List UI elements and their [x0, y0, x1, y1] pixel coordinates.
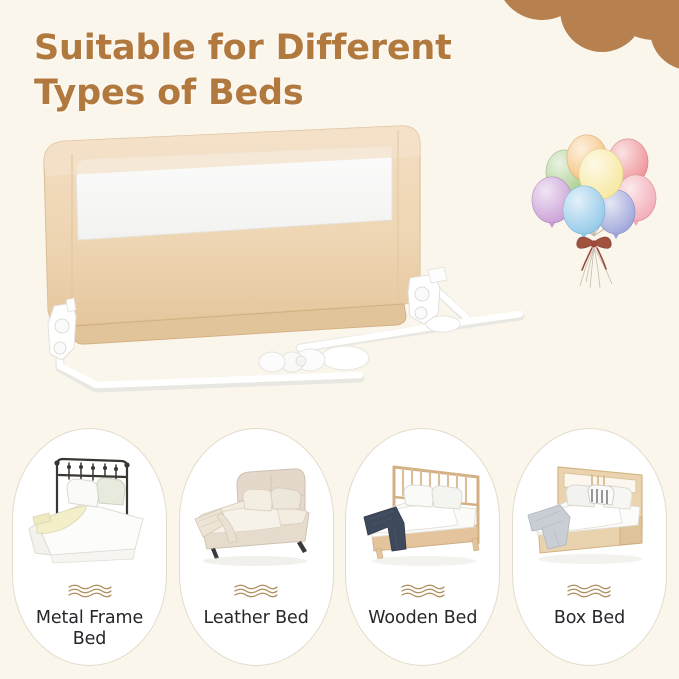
bed-type-label: Metal Frame Bed	[13, 608, 166, 649]
bed-type-card-wooden-bed[interactable]: Wooden Bed	[345, 428, 500, 666]
bed-type-label: Leather Bed	[198, 608, 315, 629]
wave-divider-icon	[233, 583, 279, 599]
page-title: Suitable for Different Types of Beds	[34, 26, 452, 116]
wave-divider-icon	[67, 583, 113, 599]
wave-divider-icon	[566, 583, 612, 599]
cloud-shape	[494, 0, 679, 73]
rail-fabric-body	[44, 126, 420, 344]
bed-type-card-leather-bed[interactable]: Leather Bed	[179, 428, 334, 666]
bed-type-label: Box Bed	[548, 608, 631, 629]
wave-divider-icon	[400, 583, 446, 599]
ribbon-bow	[577, 237, 611, 270]
leather-bed-illustration	[181, 445, 331, 573]
bed-rail-product	[0, 110, 560, 410]
wooden-bed-illustration	[348, 445, 498, 573]
bed-type-card-box-bed[interactable]: Box Bed	[512, 428, 667, 666]
balloon-bouquet	[524, 112, 674, 292]
bed-type-card-metal-frame-bed[interactable]: Metal Frame Bed	[12, 428, 167, 666]
bed-type-label: Wooden Bed	[362, 608, 483, 629]
metal-frame-bed-illustration	[15, 445, 165, 573]
rail-floor-clamp	[259, 346, 369, 372]
bed-type-card-row: Metal Frame Bed	[12, 428, 667, 668]
infographic-canvas: Suitable for Different Types of Beds	[0, 0, 679, 679]
box-bed-illustration	[514, 445, 664, 573]
